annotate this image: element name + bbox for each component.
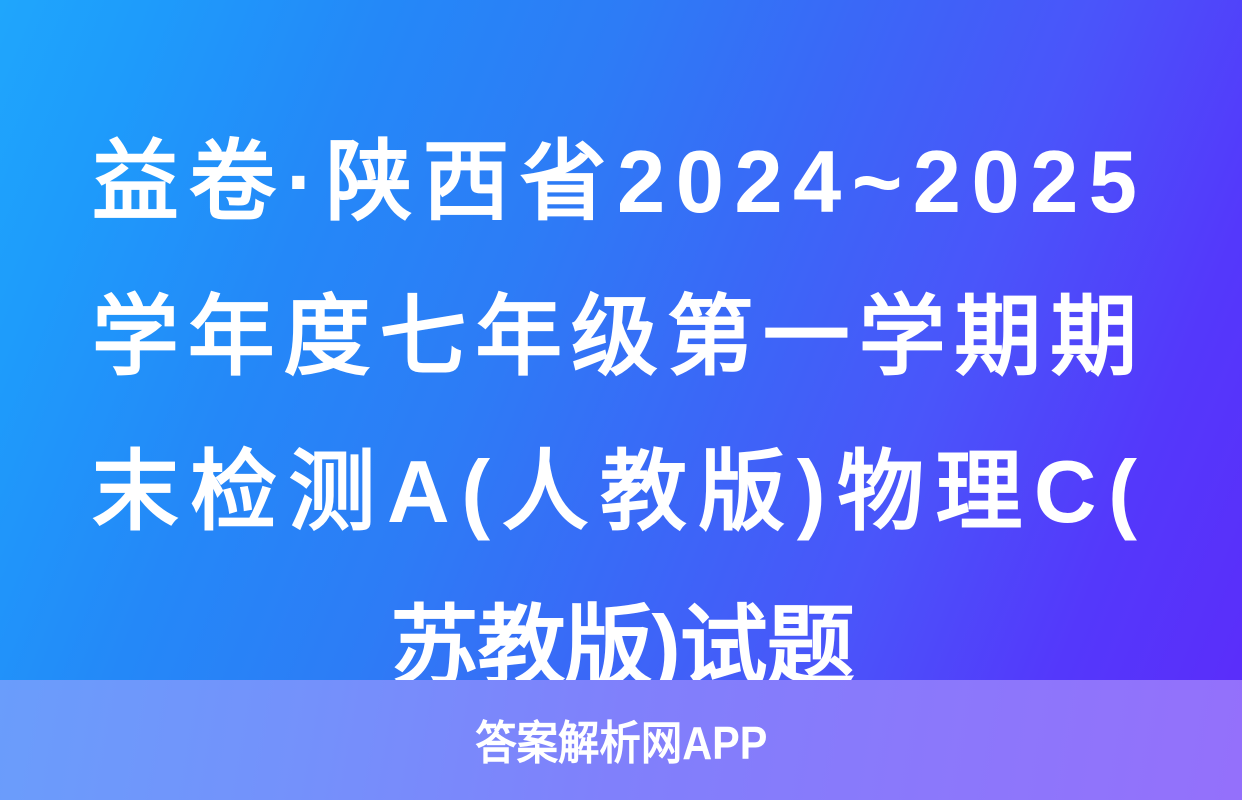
- title-char: 陕: [326, 104, 412, 259]
- title-char: 5: [1089, 104, 1136, 259]
- title-char: 0: [971, 104, 1018, 259]
- title-char: 4: [793, 104, 840, 259]
- title-char: 益: [92, 104, 178, 259]
- title-char: 级: [571, 259, 657, 414]
- app-watermark-label: 答案解析网APP: [475, 707, 767, 773]
- title-char: 期: [1050, 259, 1136, 414]
- title-char: 西: [423, 104, 509, 259]
- title-char: 度: [284, 259, 370, 414]
- title-char: 2: [734, 104, 781, 259]
- title-char: 年: [475, 259, 561, 414]
- title-char: 七: [380, 259, 466, 414]
- title-char: 测: [289, 414, 375, 569]
- title-char: 卷: [189, 104, 275, 259]
- title-char: ~: [852, 104, 902, 259]
- title-char: 理: [936, 414, 1022, 569]
- title-char: 2: [1030, 104, 1077, 259]
- title-char: 物: [837, 414, 923, 569]
- title-char: A: [387, 414, 449, 569]
- title-char: ·: [286, 104, 314, 259]
- title-char: 2: [913, 104, 960, 259]
- title-char: 年: [188, 259, 274, 414]
- title-char: 0: [676, 104, 723, 259]
- page-title: 益 卷 · 陕 西 省 2 0 2 4 ~ 2 0 2 5 学 年 度 七 年 …: [92, 104, 1152, 724]
- title-char: (: [461, 414, 489, 569]
- title-char: 省: [520, 104, 606, 259]
- footer-band: 答案解析网APP: [0, 680, 1242, 800]
- title-char: 一: [763, 259, 849, 414]
- title-char: 学: [92, 259, 178, 414]
- title-char: 2: [617, 104, 664, 259]
- cover-canvas: 益 卷 · 陕 西 省 2 0 2 4 ~ 2 0 2 5 学 年 度 七 年 …: [0, 0, 1242, 800]
- title-line-3: 末 检 测 A ( 人 教 版 ) 物 理 C (: [92, 414, 1136, 569]
- title-line-2: 学 年 度 七 年 级 第 一 学 期 期: [92, 259, 1136, 414]
- title-char: 学: [859, 259, 945, 414]
- title-char: 第: [667, 259, 753, 414]
- title-char: C: [1034, 414, 1096, 569]
- title-char: 版: [698, 414, 784, 569]
- title-char: 人: [502, 414, 588, 569]
- title-char: ): [797, 414, 825, 569]
- title-char: 教: [600, 414, 686, 569]
- title-char: (: [1108, 414, 1136, 569]
- title-char: 检: [190, 414, 276, 569]
- title-char: 末: [92, 414, 178, 569]
- title-line-1: 益 卷 · 陕 西 省 2 0 2 4 ~ 2 0 2 5: [92, 104, 1136, 259]
- title-char: 期: [955, 259, 1041, 414]
